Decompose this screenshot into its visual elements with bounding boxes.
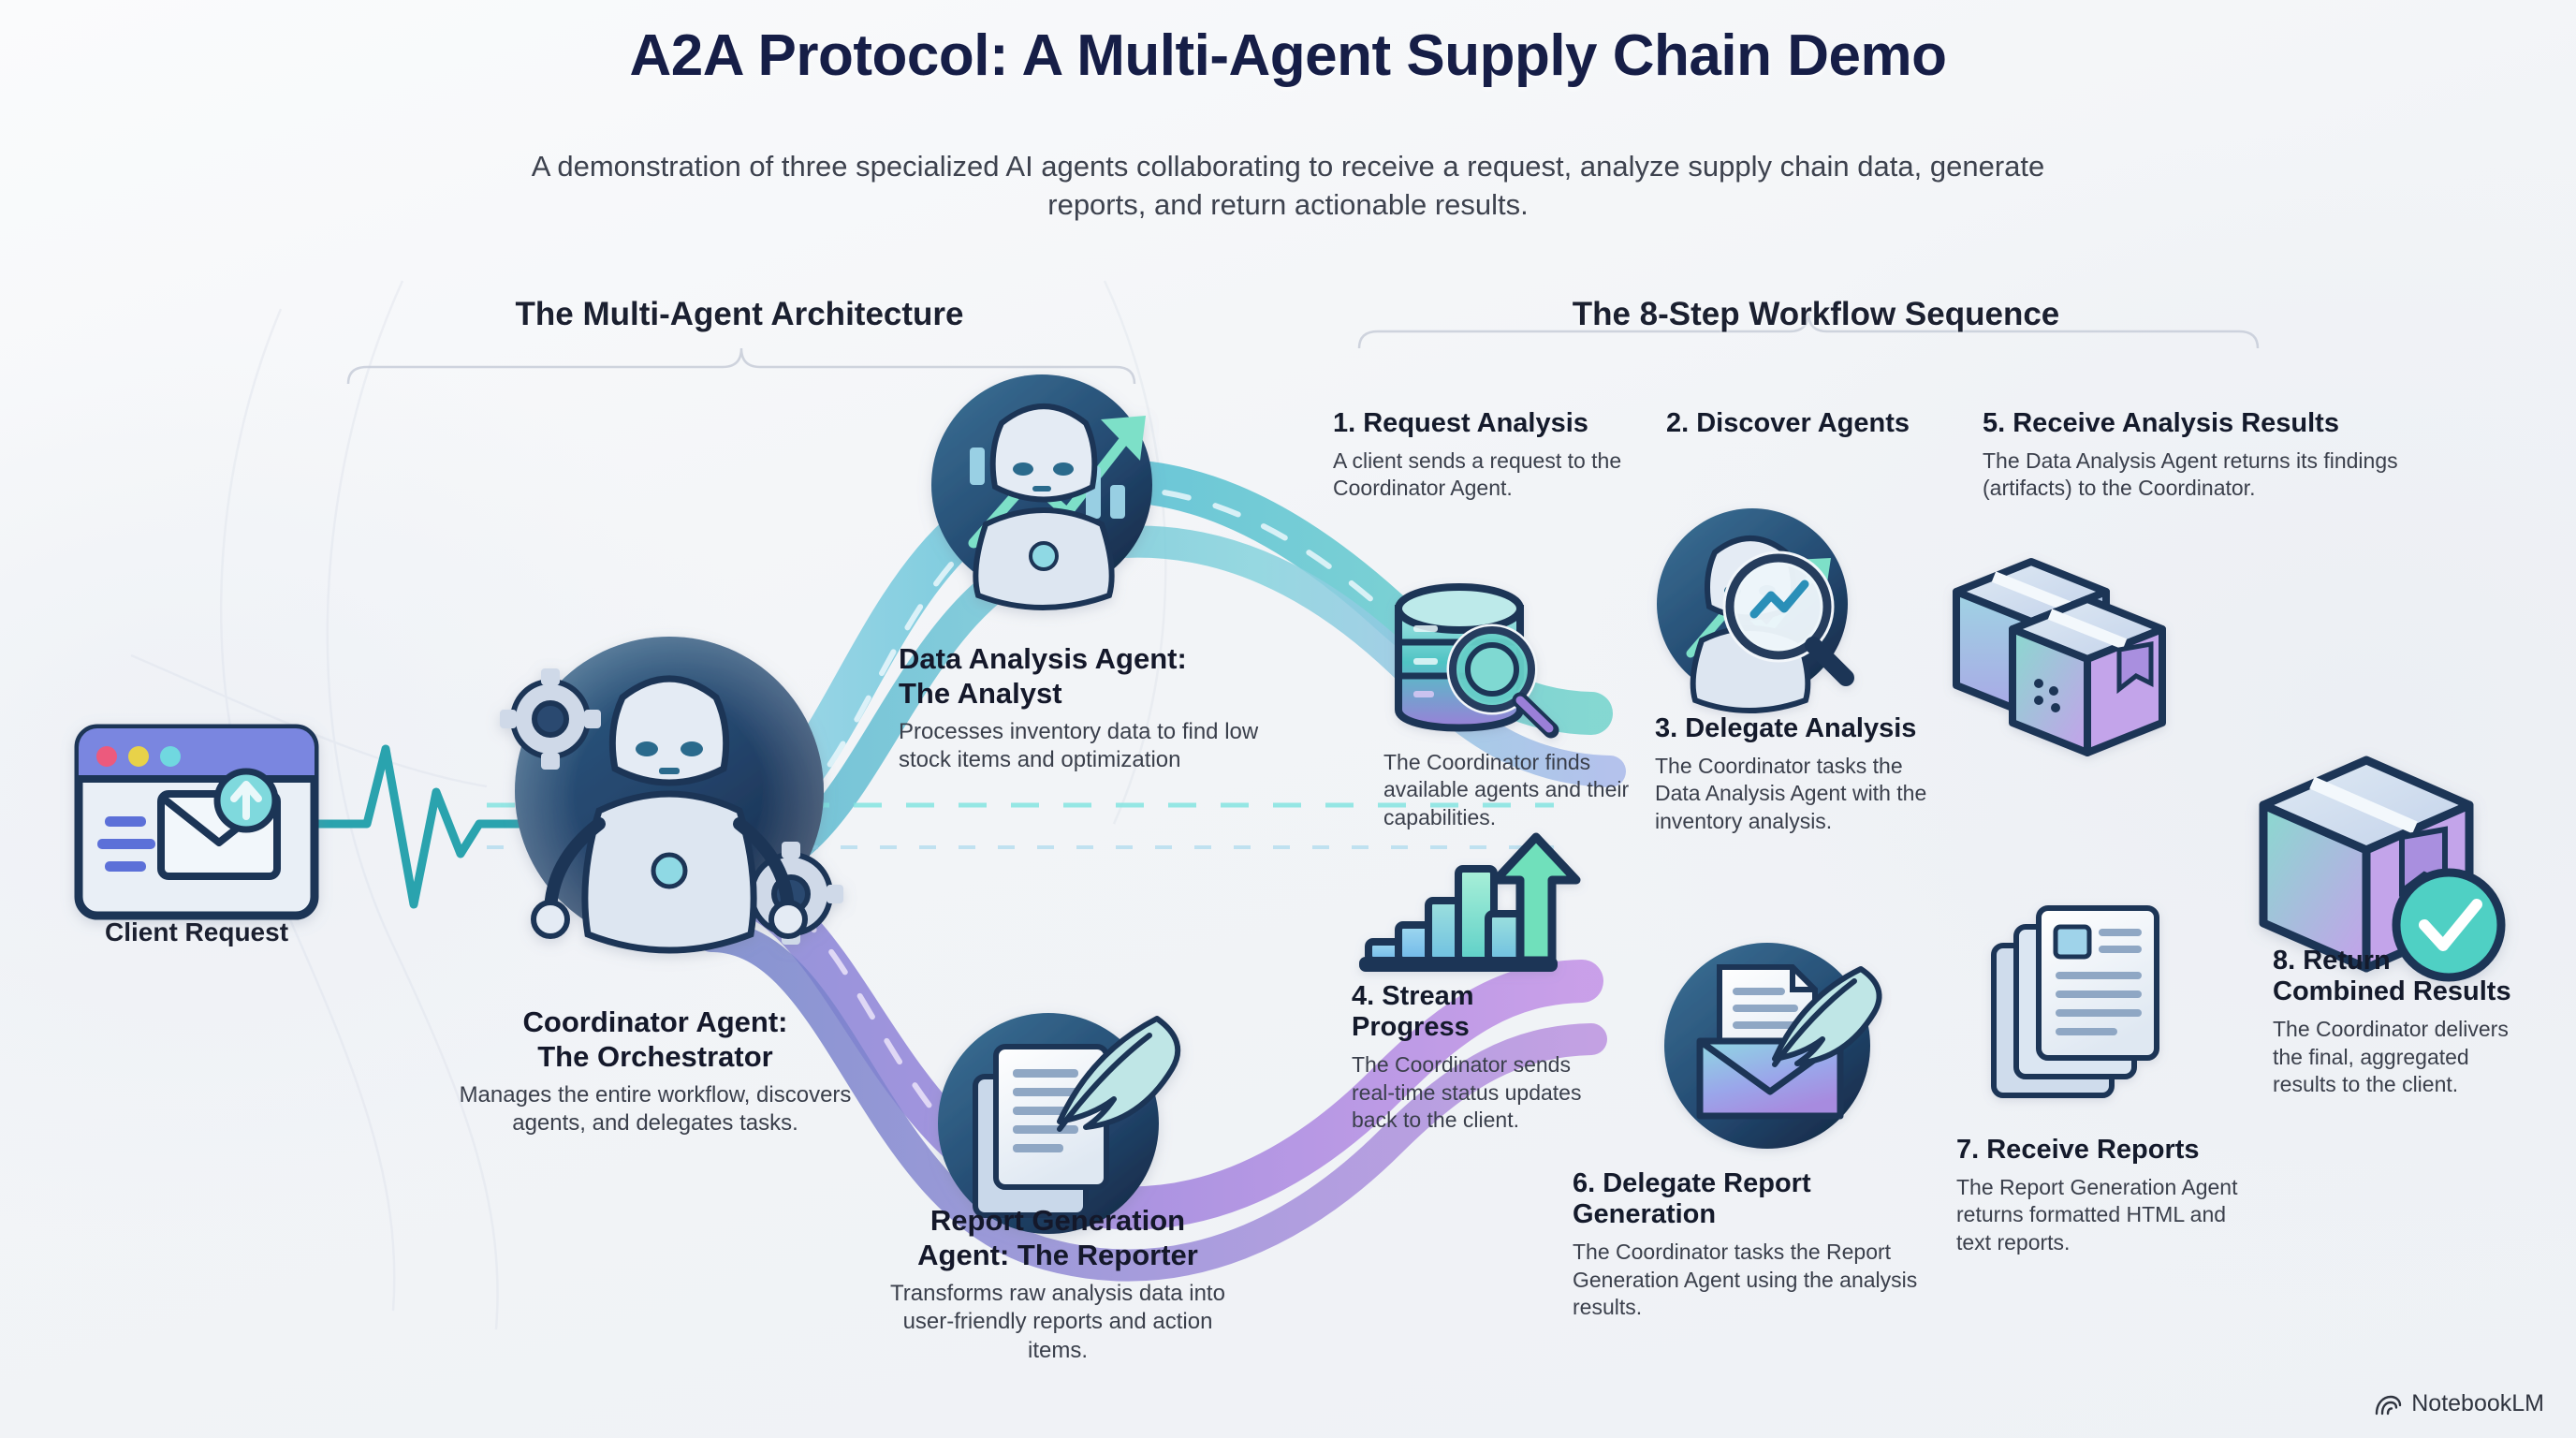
step-2-description-block: The Coordinator finds available agents a… xyxy=(1383,749,1655,831)
report-generation-agent-description: Transforms raw analysis data into user-f… xyxy=(871,1280,1245,1365)
step-5-title: 5. Receive Analysis Results xyxy=(1983,408,2413,439)
step-6-title: 6. Delegate Report Generation xyxy=(1573,1168,1919,1230)
step-3-description: The Coordinator tasks the Data Analysis … xyxy=(1655,753,1945,835)
workflow-section-title: The 8-Step Workflow Sequence xyxy=(1264,296,2368,333)
data-analysis-agent-description: Processes inventory data to find low sto… xyxy=(899,718,1273,774)
step-4-title: 4. Stream Progress xyxy=(1352,981,1586,1043)
notebooklm-watermark: NotebookLM xyxy=(2374,1390,2544,1417)
step-8-description: The Coordinator delivers the final, aggr… xyxy=(2273,1016,2512,1098)
step-4-block: 4. Stream Progress The Coordinator sends… xyxy=(1352,981,1586,1134)
notebooklm-logo-icon xyxy=(2374,1392,2402,1416)
data-analysis-agent-block: Data Analysis Agent: The Analyst Process… xyxy=(899,642,1273,775)
architecture-section-title: The Multi-Agent Architecture xyxy=(187,296,1292,333)
client-request-icon xyxy=(79,728,315,916)
data-analysis-agent-name-line1: Data Analysis Agent: xyxy=(899,642,1187,675)
step-5-block: 5. Receive Analysis Results The Data Ana… xyxy=(1983,408,2413,503)
infographic-canvas: A2A Protocol: A Multi-Agent Supply Chain… xyxy=(0,0,2576,1438)
coordinator-agent-block: Coordinator Agent: The Orchestrator Mana… xyxy=(440,1005,871,1138)
step-3-title: 3. Delegate Analysis xyxy=(1655,713,1945,744)
stream-progress-chart-icon xyxy=(1359,837,1576,972)
step-2-description: The Coordinator finds available agents a… xyxy=(1383,749,1655,831)
step-7-title: 7. Receive Reports xyxy=(1956,1135,2256,1166)
coordinator-agent-description: Manages the entire workflow, discovers a… xyxy=(440,1081,871,1137)
step-1-description: A client sends a request to the Coordina… xyxy=(1333,448,1642,503)
report-generation-agent-icon xyxy=(938,1013,1178,1234)
report-generation-agent-name: Report Generation Agent: The Reporter xyxy=(871,1204,1245,1272)
step-8-block: 8. Return Combined Results The Coordinat… xyxy=(2273,946,2512,1098)
coordinator-agent-name: Coordinator Agent: The Orchestrator xyxy=(440,1005,871,1074)
package-boxes-icon xyxy=(1956,562,2162,753)
page-title: A2A Protocol: A Multi-Agent Supply Chain… xyxy=(0,22,2576,89)
step-8-title: 8. Return Combined Results xyxy=(2273,946,2512,1007)
step-6-description: The Coordinator tasks the Report Generat… xyxy=(1573,1239,1919,1321)
coordinator-agent-name-line2: The Orchestrator xyxy=(537,1040,773,1073)
step-1-block: 1. Request Analysis A client sends a req… xyxy=(1333,408,1642,503)
step-4-description: The Coordinator sends real-time status u… xyxy=(1352,1051,1586,1134)
client-request-label: Client Request xyxy=(66,917,328,947)
database-magnifier-icon xyxy=(1398,587,1551,730)
page-subtitle: A demonstration of three specialized AI … xyxy=(530,148,2046,225)
discover-agents-icon xyxy=(1657,508,1848,711)
notebooklm-label: NotebookLM xyxy=(2411,1390,2544,1417)
step-7-description: The Report Generation Agent returns form… xyxy=(1956,1174,2256,1256)
coordinator-agent-icon xyxy=(500,637,843,950)
coordinator-agent-name-line1: Coordinator Agent: xyxy=(523,1005,788,1038)
step-2-title: 2. Discover Agents xyxy=(1666,408,1975,439)
data-analysis-agent-name: Data Analysis Agent: The Analyst xyxy=(899,642,1273,711)
step-5-description: The Data Analysis Agent returns its find… xyxy=(1983,448,2413,503)
stacked-documents-icon xyxy=(1994,908,2157,1095)
step-6-block: 6. Delegate Report Generation The Coordi… xyxy=(1573,1168,1919,1321)
step-2-block: 2. Discover Agents xyxy=(1666,408,1975,439)
data-analysis-agent-name-line2: The Analyst xyxy=(899,677,1062,710)
data-analysis-agent-icon xyxy=(931,374,1152,608)
step-7-block: 7. Receive Reports The Report Generation… xyxy=(1956,1135,2256,1256)
delegate-report-icon xyxy=(1664,943,1880,1149)
step-3-block: 3. Delegate Analysis The Coordinator tas… xyxy=(1655,713,1945,835)
report-generation-agent-block: Report Generation Agent: The Reporter Tr… xyxy=(871,1204,1245,1365)
report-generation-agent-name-line1: Report Generation xyxy=(930,1204,1185,1237)
step-1-title: 1. Request Analysis xyxy=(1333,408,1642,439)
report-generation-agent-name-line2: Agent: The Reporter xyxy=(917,1239,1198,1271)
